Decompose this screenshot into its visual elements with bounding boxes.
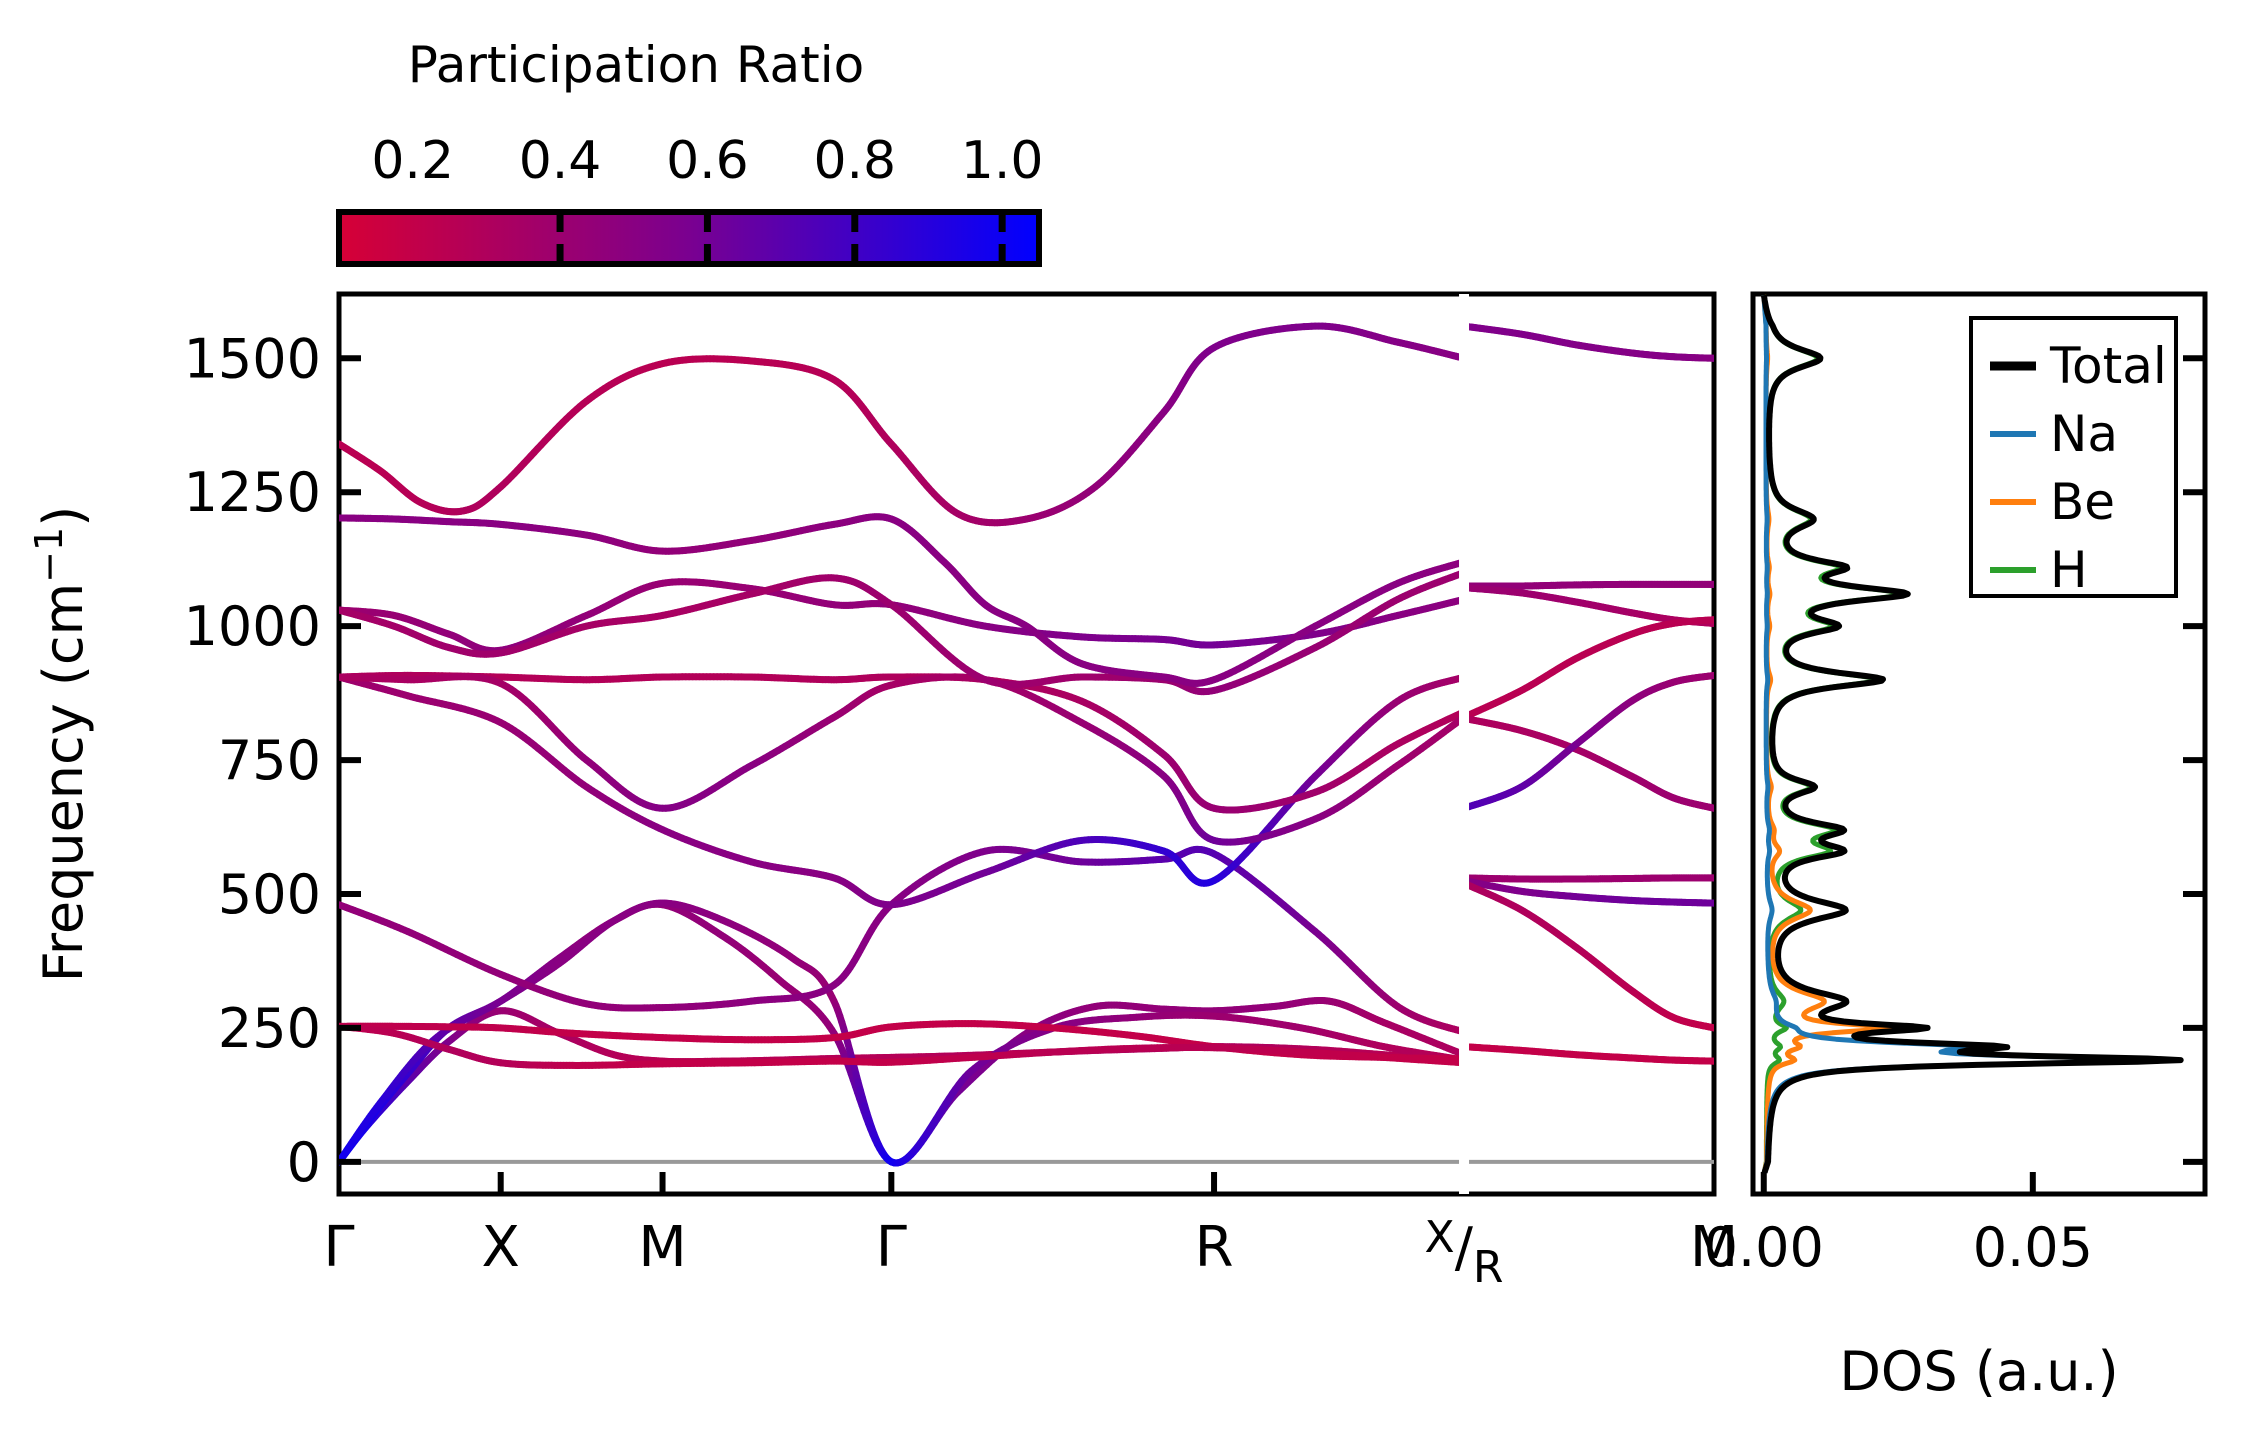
band-xtick-label-2: M — [638, 1215, 686, 1280]
colorbar-tick-label-2: 0.6 — [666, 131, 749, 191]
band-ytick-label-2: 500 — [218, 863, 321, 926]
band-xtick-label-3: Γ — [876, 1215, 907, 1280]
colorbar-gradient — [339, 212, 1039, 264]
colorbar-tick-label-1: 0.4 — [519, 131, 602, 191]
band-ylabel-exponent: −1 — [27, 527, 71, 583]
band-ytick-label-1: 250 — [218, 997, 321, 1060]
dos-xtick-label-1: 0.05 — [1973, 1216, 2093, 1279]
figure-canvas: Participation Ratio 0.20.40.60.81.0 0250… — [0, 0, 2259, 1455]
band-xtick-label-0: Γ — [323, 1215, 354, 1280]
band-ylabel-main: Frequency (cm — [32, 583, 95, 983]
band-ytick-label-3: 750 — [218, 729, 321, 792]
band-curve-20 — [1464, 878, 1714, 879]
figure-root: Participation Ratio 0.20.40.60.81.0 0250… — [0, 0, 2259, 1455]
dos-xlabel: DOS (a.u.) — [1839, 1340, 2118, 1403]
band-xtick-label-4: R — [1195, 1215, 1234, 1280]
dos-legend: TotalNaBeH — [1971, 318, 2176, 599]
colorbar-tick-label-0: 0.2 — [371, 131, 454, 191]
colorbar-tick-label-4: 1.0 — [961, 131, 1044, 191]
band-ylabel-close: ) — [32, 506, 95, 527]
colorbar-tick-label-3: 0.8 — [813, 131, 896, 191]
band-ytick-label-5: 1250 — [184, 461, 321, 524]
band-curve-15 — [1464, 584, 1714, 586]
band-ytick-label-4: 1000 — [184, 595, 321, 658]
legend-label-Na: Na — [2050, 405, 2118, 463]
legend-label-Be: Be — [2050, 473, 2115, 531]
colorbar-title: Participation Ratio — [408, 36, 864, 94]
band-xtick-label-1: X — [482, 1215, 520, 1280]
dos-xtick-label-0: 0.00 — [1704, 1216, 1824, 1279]
band-ytick-label-6: 1500 — [184, 327, 321, 390]
legend-label-Total: Total — [2049, 337, 2167, 395]
legend-label-H: H — [2050, 541, 2088, 599]
band-ytick-label-0: 0 — [287, 1131, 321, 1194]
